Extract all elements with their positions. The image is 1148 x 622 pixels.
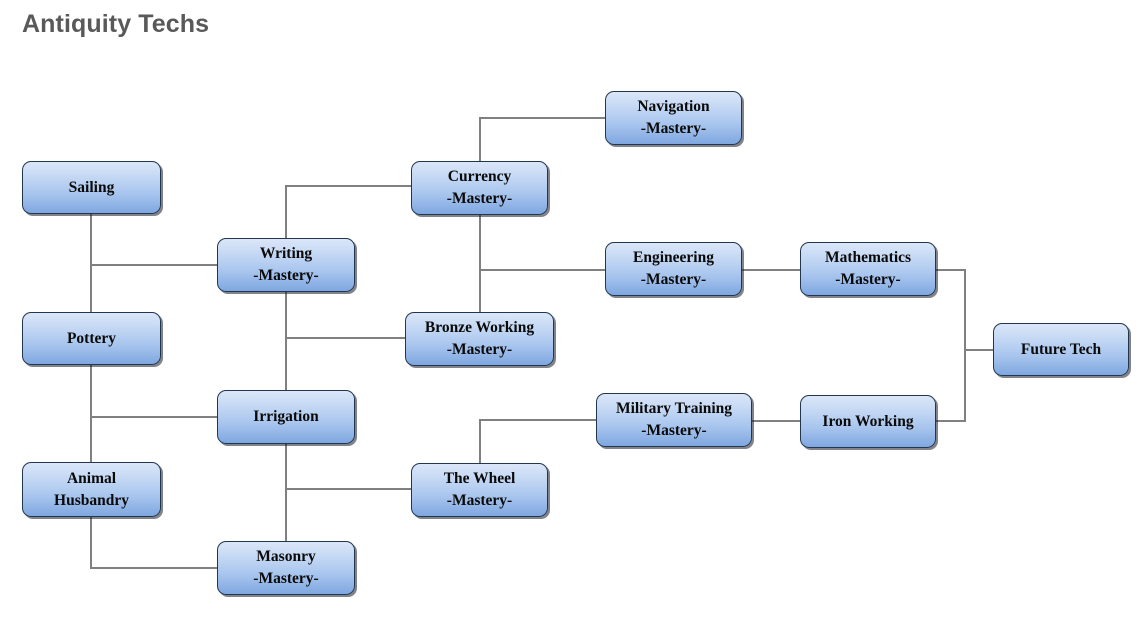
tech-node-currency[interactable]: Currency-Mastery- — [411, 161, 548, 215]
edge-the-wheel-to-military-training — [480, 420, 596, 463]
tech-node-irrigation[interactable]: Irrigation — [217, 390, 355, 444]
tech-node-pottery[interactable]: Pottery — [22, 312, 161, 365]
tech-node-label-secondary: -Mastery- — [253, 568, 318, 590]
tech-node-label-primary: Writing — [260, 243, 312, 265]
tech-node-label-secondary: Husbandry — [54, 490, 129, 512]
tech-node-label-primary: Pottery — [67, 328, 116, 350]
tech-node-label-primary: The Wheel — [444, 468, 516, 490]
tech-node-label-primary: Bronze Working — [425, 317, 534, 339]
edge-layer — [0, 0, 1148, 622]
tech-node-label-primary: Irrigation — [253, 406, 318, 428]
tech-node-label-primary: Animal — [67, 468, 116, 490]
tech-node-label-primary: Military Training — [616, 398, 732, 420]
tech-node-mathematics[interactable]: Mathematics-Mastery- — [800, 242, 936, 296]
tech-node-label-secondary: -Mastery- — [447, 339, 512, 361]
tech-node-label-secondary: -Mastery- — [641, 118, 706, 140]
tech-node-writing[interactable]: Writing-Mastery- — [217, 238, 355, 292]
edge-mathematics-to-future-tech — [936, 270, 993, 350]
tech-node-label-primary: Iron Working — [822, 411, 913, 433]
edge-pottery-to-irrigation — [91, 365, 217, 417]
tech-node-label-secondary: -Mastery- — [641, 269, 706, 291]
edge-writing-to-bronze-working — [286, 292, 405, 338]
tech-node-future-tech[interactable]: Future Tech — [993, 323, 1129, 376]
tech-node-engineering[interactable]: Engineering-Mastery- — [605, 242, 742, 296]
edge-irrigation-to-the-wheel — [286, 444, 411, 489]
edge-currency-to-navigation — [480, 118, 605, 161]
tech-node-label-secondary: -Mastery- — [253, 265, 318, 287]
edge-sailing-to-writing — [91, 214, 217, 265]
tech-node-label-primary: Future Tech — [1021, 339, 1101, 361]
tech-node-navigation[interactable]: Navigation-Mastery- — [605, 91, 742, 145]
tech-node-iron-working[interactable]: Iron Working — [800, 395, 936, 448]
tech-node-sailing[interactable]: Sailing — [22, 161, 161, 214]
tech-node-label-primary: Engineering — [633, 247, 714, 269]
edge-currency-to-engineering — [480, 215, 605, 270]
tech-node-label-secondary: -Mastery- — [835, 269, 900, 291]
tech-node-label-primary: Mathematics — [825, 247, 911, 269]
edge-writing-to-currency — [286, 186, 411, 238]
tech-node-label-secondary: -Mastery- — [447, 188, 512, 210]
tech-node-bronze-working[interactable]: Bronze Working-Mastery- — [405, 312, 554, 366]
tech-tree-canvas: Antiquity Techs SailingPotteryAnimalHusb… — [0, 0, 1148, 622]
tech-node-label-primary: Masonry — [256, 546, 315, 568]
tech-node-military-training[interactable]: Military Training-Mastery- — [596, 393, 752, 447]
tech-node-label-primary: Sailing — [69, 177, 115, 199]
tech-node-label-secondary: -Mastery- — [447, 490, 512, 512]
edge-iron-working-to-future-tech — [936, 350, 965, 421]
tech-node-masonry[interactable]: Masonry-Mastery- — [217, 541, 355, 595]
tech-node-animal-husbandry[interactable]: AnimalHusbandry — [22, 462, 161, 517]
tech-node-label-primary: Navigation — [637, 96, 709, 118]
tech-node-label-primary: Currency — [448, 166, 511, 188]
edge-animal-husbandry-to-masonry — [91, 517, 217, 568]
tech-node-the-wheel[interactable]: The Wheel-Mastery- — [411, 463, 548, 517]
tech-node-label-secondary: -Mastery- — [641, 420, 706, 442]
